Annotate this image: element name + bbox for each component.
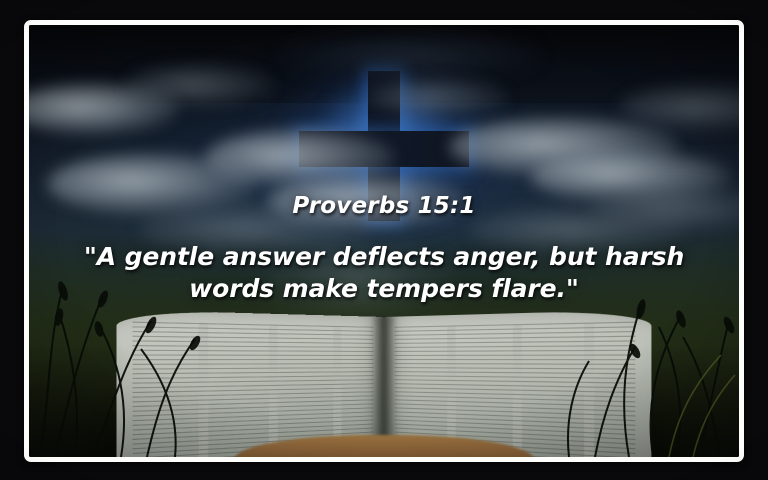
verse-reference: Proverbs 15:1: [53, 193, 715, 219]
open-bible: [149, 295, 619, 457]
cloud-icon: [369, 77, 509, 117]
cloud-icon: [125, 63, 275, 107]
image-canvas: Proverbs 15:1 "A gentle answer deflects …: [0, 0, 768, 480]
cloud-icon: [279, 33, 539, 79]
verse-text-block: Proverbs 15:1 "A gentle answer deflects …: [29, 193, 739, 304]
photo-stage: Proverbs 15:1 "A gentle answer deflects …: [29, 25, 739, 457]
photo-frame: Proverbs 15:1 "A gentle answer deflects …: [24, 20, 744, 462]
verse-body: "A gentle answer deflects anger, but har…: [64, 241, 704, 304]
